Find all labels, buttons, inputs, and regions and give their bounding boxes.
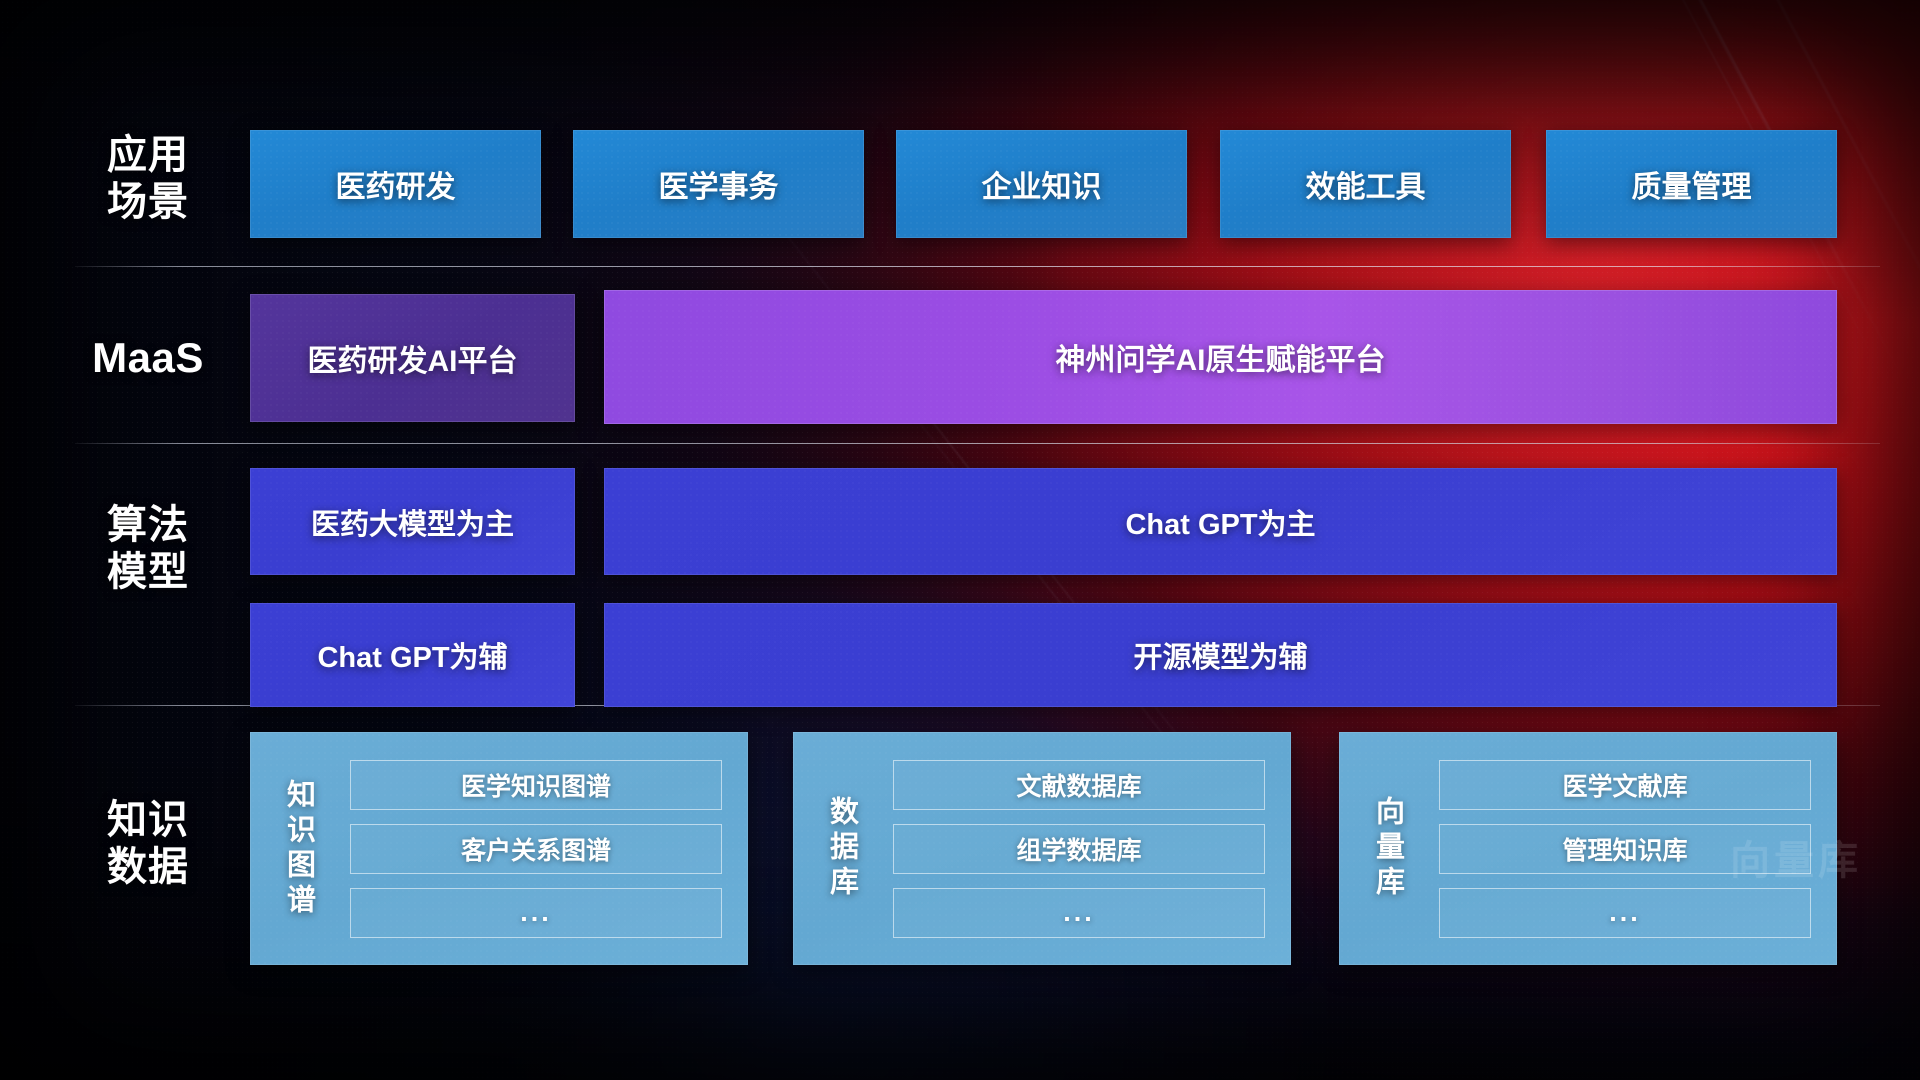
divider-row1 (75, 266, 1880, 267)
row-label-application: 应用 场景 (60, 132, 236, 226)
knowledge-item-graph-1-label: 医学知识图谱 (461, 767, 611, 803)
knowledge-item-vector-2-label: 管理知识库 (1562, 831, 1687, 867)
knowledge-item-vector-3-label: ... (1609, 897, 1641, 928)
algo-box-chatgpt-secondary-label: Chat GPT为辅 (317, 634, 507, 676)
algo-box-opensource-secondary-label: 开源模型为辅 (1133, 634, 1307, 676)
knowledge-item-database-3[interactable]: ... (893, 888, 1265, 938)
row-label-algorithm-line1: 算法 (60, 502, 236, 549)
app-box-2[interactable]: 医学事务 (573, 130, 864, 238)
divider-row2 (75, 443, 1880, 444)
row-label-knowledge: 知识 数据 (60, 797, 236, 891)
knowledge-panel-database-title: 数据库 (793, 732, 889, 965)
algo-box-chatgpt-primary[interactable]: Chat GPT为主 (604, 468, 1837, 575)
app-box-4[interactable]: 效能工具 (1220, 130, 1511, 238)
knowledge-item-graph-3[interactable]: ... (350, 888, 722, 938)
knowledge-item-database-2-label: 组学数据库 (1016, 831, 1141, 867)
knowledge-item-database-2[interactable]: 组学数据库 (893, 824, 1265, 874)
knowledge-panel-graph-items: 医学知识图谱 客户关系图谱 ... (346, 732, 748, 965)
knowledge-item-database-1-label: 文献数据库 (1016, 767, 1141, 803)
row-label-maas: MaaS (60, 333, 236, 383)
algo-box-chatgpt-primary-label: Chat GPT为主 (1125, 501, 1315, 543)
algo-box-chatgpt-secondary[interactable]: Chat GPT为辅 (250, 603, 575, 707)
row-label-application-line1: 应用 (60, 132, 236, 179)
row-label-knowledge-line2: 数据 (60, 844, 236, 891)
row-label-application-line2: 场景 (60, 179, 236, 226)
app-box-4-label: 效能工具 (1306, 162, 1426, 206)
knowledge-item-database-1[interactable]: 文献数据库 (893, 760, 1265, 810)
row-label-algorithm-line2: 模型 (60, 549, 236, 596)
knowledge-item-database-3-label: ... (1063, 897, 1095, 928)
architecture-diagram: 应用 场景 医药研发 医学事务 企业知识 效能工具 质量管理 MaaS 医药研发… (0, 0, 1920, 1080)
app-box-1-label: 医药研发 (336, 162, 456, 206)
algo-box-medical-primary-label: 医药大模型为主 (311, 501, 514, 543)
app-box-3[interactable]: 企业知识 (896, 130, 1187, 238)
knowledge-item-graph-1[interactable]: 医学知识图谱 (350, 760, 722, 810)
row-label-maas-text: MaaS (60, 333, 236, 383)
knowledge-panel-vector-title: 向量库 (1339, 732, 1435, 965)
algo-box-medical-primary[interactable]: 医药大模型为主 (250, 468, 575, 575)
knowledge-item-vector-1-label: 医学文献库 (1562, 767, 1687, 803)
maas-platform-medical-label: 医药研发AI平台 (308, 336, 518, 380)
maas-platform-medical[interactable]: 医药研发AI平台 (250, 294, 575, 422)
knowledge-item-graph-3-label: ... (520, 897, 552, 928)
knowledge-item-graph-2-label: 客户关系图谱 (461, 831, 611, 867)
app-box-1[interactable]: 医药研发 (250, 130, 541, 238)
knowledge-panel-graph-title: 知识图谱 (250, 732, 346, 965)
app-box-2-label: 医学事务 (659, 162, 779, 206)
app-box-5-label: 质量管理 (1632, 162, 1752, 206)
knowledge-item-graph-2[interactable]: 客户关系图谱 (350, 824, 722, 874)
row-label-algorithm: 算法 模型 (60, 502, 236, 596)
knowledge-panel-database: 数据库 文献数据库 组学数据库 ... (793, 732, 1291, 965)
knowledge-item-vector-2[interactable]: 管理知识库 (1439, 824, 1811, 874)
knowledge-panel-vector: 向量库 医学文献库 管理知识库 ... (1339, 732, 1837, 965)
algo-box-opensource-secondary[interactable]: 开源模型为辅 (604, 603, 1837, 707)
maas-platform-shenzhou[interactable]: 神州问学AI原生赋能平台 (604, 290, 1837, 424)
app-box-5[interactable]: 质量管理 (1546, 130, 1837, 238)
maas-platform-shenzhou-label: 神州问学AI原生赋能平台 (1056, 335, 1386, 379)
knowledge-panel-database-items: 文献数据库 组学数据库 ... (889, 732, 1291, 965)
knowledge-panel-vector-items: 医学文献库 管理知识库 ... (1435, 732, 1837, 965)
app-box-3-label: 企业知识 (982, 162, 1102, 206)
row-label-knowledge-line1: 知识 (60, 797, 236, 844)
knowledge-item-vector-1[interactable]: 医学文献库 (1439, 760, 1811, 810)
knowledge-item-vector-3[interactable]: ... (1439, 888, 1811, 938)
knowledge-panel-graph: 知识图谱 医学知识图谱 客户关系图谱 ... (250, 732, 748, 965)
